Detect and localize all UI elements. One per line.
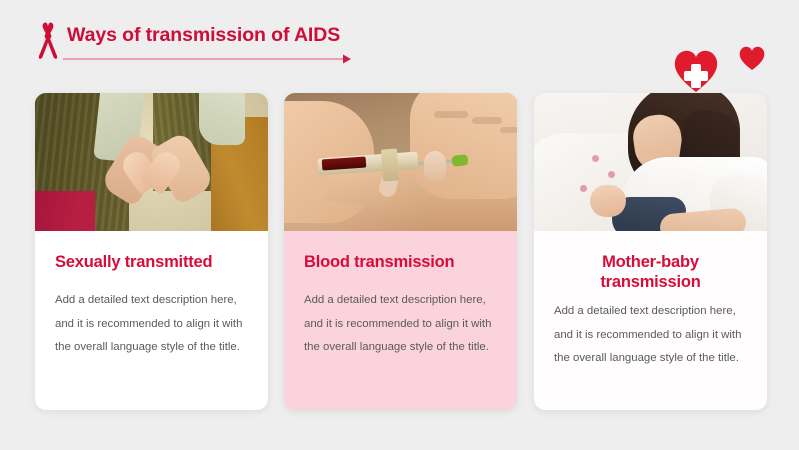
transmission-cards: Sexually transmitted Add a detailed text… bbox=[0, 93, 799, 413]
heart-decorations bbox=[668, 38, 778, 98]
card-description: Add a detailed text description here, an… bbox=[304, 289, 497, 360]
couple-hands-heart-photo bbox=[35, 93, 268, 231]
heart-icon bbox=[740, 47, 765, 70]
card-title: Sexually transmitted bbox=[55, 252, 248, 272]
card-mother-baby-transmission[interactable]: Mother-baby transmission Add a detailed … bbox=[534, 93, 767, 410]
card-sexually-transmitted[interactable]: Sexually transmitted Add a detailed text… bbox=[35, 93, 268, 410]
card-title: Mother-baby transmission bbox=[554, 252, 747, 292]
card-blood-transmission[interactable]: Blood transmission Add a detailed text d… bbox=[284, 93, 517, 410]
mother-holding-baby-photo bbox=[534, 93, 767, 231]
heart-with-cross-icon bbox=[675, 51, 717, 92]
aids-ribbon-icon bbox=[33, 22, 63, 60]
page-title: Ways of transmission of AIDS bbox=[67, 24, 340, 47]
arrow-right-line-icon bbox=[63, 53, 353, 65]
card-description: Add a detailed text description here, an… bbox=[55, 289, 248, 360]
card-title: Blood transmission bbox=[304, 252, 497, 272]
page-header: Ways of transmission of AIDS bbox=[0, 0, 799, 90]
card-description: Add a detailed text description here, an… bbox=[554, 300, 747, 371]
syringe-blood-draw-photo bbox=[284, 93, 517, 231]
